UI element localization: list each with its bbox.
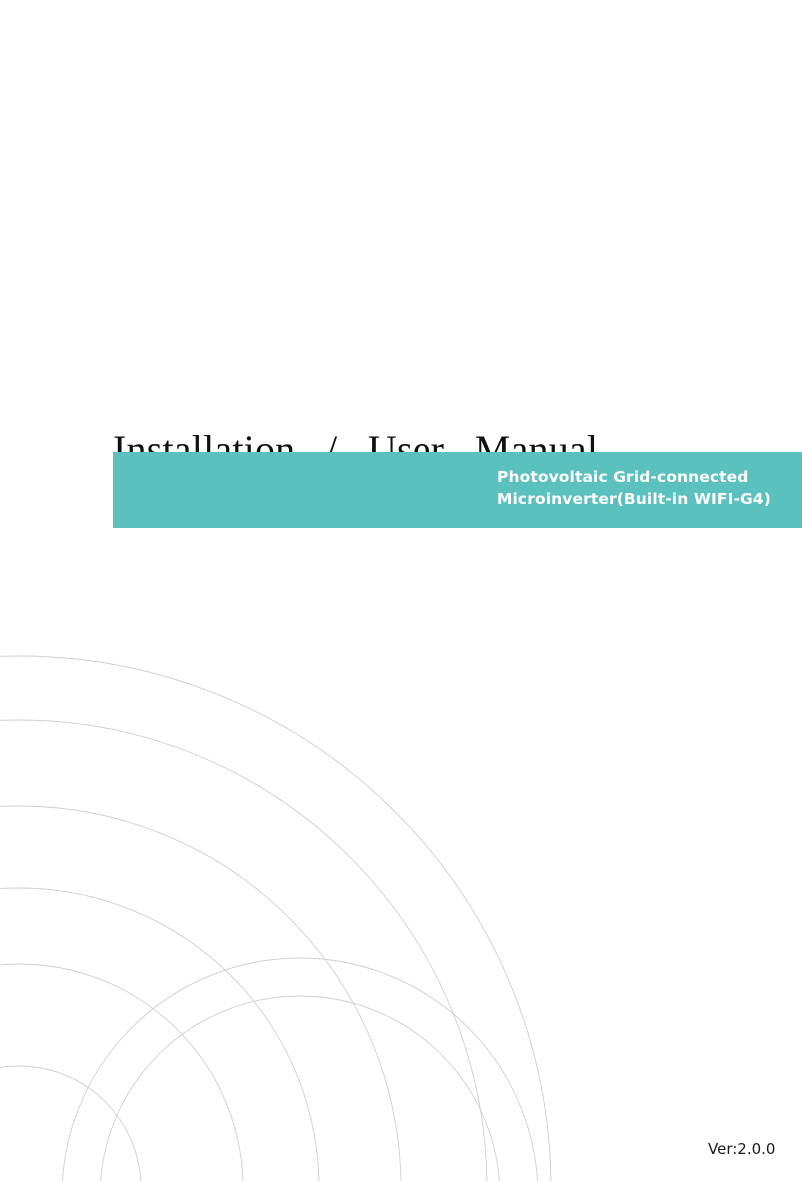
version-label: Ver:2.0.0 — [708, 1140, 775, 1158]
ripple-arc — [62, 958, 538, 1181]
subtitle-line-2: Microinverter(Built-in WIFI-G4) — [497, 488, 797, 510]
ripple-arc — [0, 720, 487, 1181]
subtitle-banner: Photovoltaic Grid-connected Microinverte… — [113, 452, 802, 528]
ripple-arc — [100, 996, 500, 1181]
ripple-arc — [0, 806, 401, 1181]
ripple-arc — [0, 888, 319, 1181]
ripple-arc — [0, 656, 551, 1181]
manual-cover-page: Installation / User Manual Photovoltaic … — [0, 0, 802, 1181]
ripple-arc — [0, 964, 243, 1181]
subtitle-line-1: Photovoltaic Grid-connected — [497, 466, 797, 488]
concentric-ripple-arcs-decoration — [0, 0, 802, 1181]
subtitle-text-block: Photovoltaic Grid-connected Microinverte… — [497, 466, 797, 510]
ripple-arc — [0, 1066, 141, 1181]
